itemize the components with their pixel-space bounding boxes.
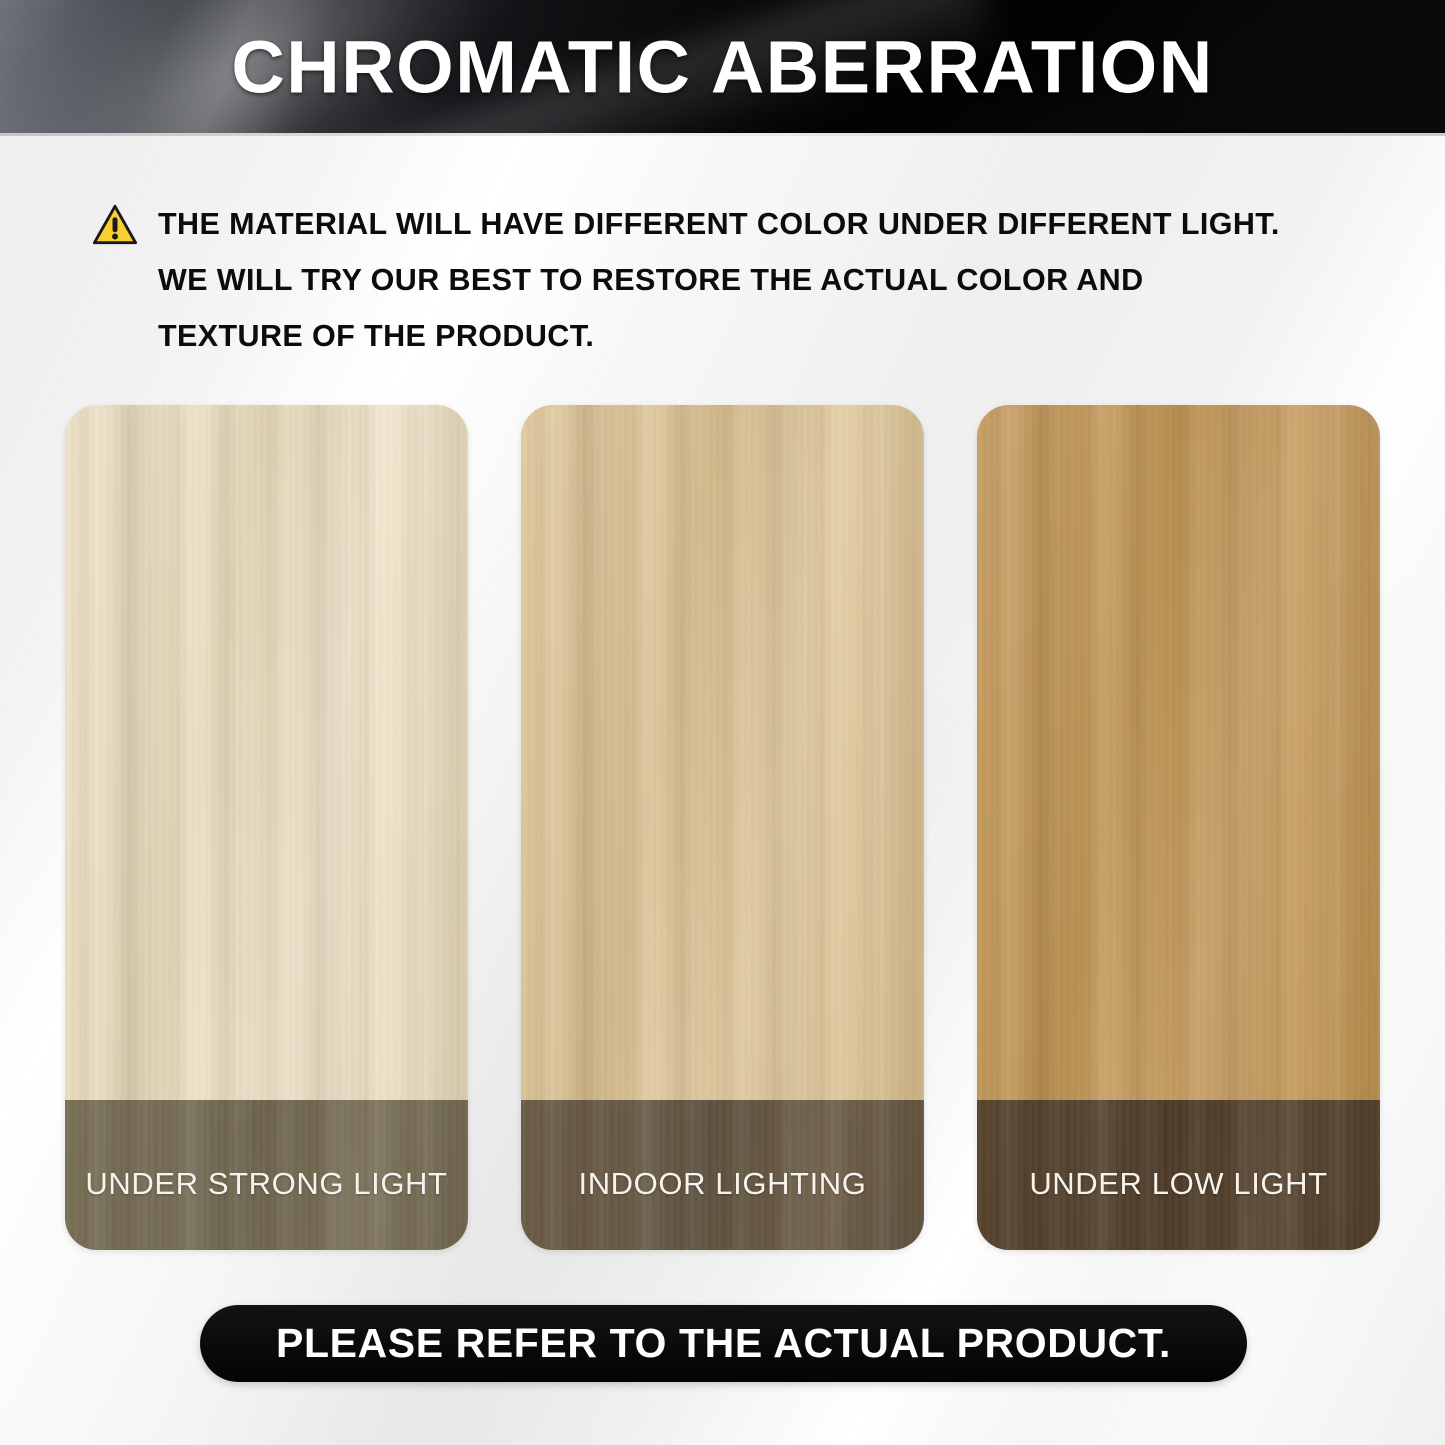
swatch-row: UNDER STRONG LIGHT INDOOR LIGHTING UNDER… — [65, 405, 1380, 1250]
footer-disclaimer-text: PLEASE REFER TO THE ACTUAL PRODUCT. — [276, 1320, 1171, 1367]
swatch-panel-indoor-lighting[interactable]: INDOOR LIGHTING — [521, 405, 924, 1250]
chromatic-aberration-infographic: CHROMATIC ABERRATION THE MATERIAL WILL H… — [0, 0, 1445, 1445]
wood-grain-soft-overlay — [65, 405, 468, 1100]
swatch-label-low-light: UNDER LOW LIGHT — [977, 1166, 1380, 1202]
wood-grain-soft-overlay — [521, 405, 924, 1100]
wood-grain-overlay — [65, 405, 468, 1100]
notice-line-1: THE MATERIAL WILL HAVE DIFFERENT COLOR U… — [158, 196, 1280, 252]
swatch-label-strong-light: UNDER STRONG LIGHT — [65, 1166, 468, 1202]
warning-triangle-icon — [92, 202, 138, 248]
wood-grain-overlay — [521, 405, 924, 1100]
notice-line-2: WE WILL TRY OUR BEST TO RESTORE THE ACTU… — [158, 252, 1280, 308]
swatch-label-indoor-lighting: INDOOR LIGHTING — [521, 1166, 924, 1202]
header-underline — [0, 133, 1445, 136]
header-banner: CHROMATIC ABERRATION — [0, 0, 1445, 133]
notice-text: THE MATERIAL WILL HAVE DIFFERENT COLOR U… — [158, 196, 1280, 364]
notice-block: THE MATERIAL WILL HAVE DIFFERENT COLOR U… — [92, 196, 1372, 364]
wood-grain-overlay — [977, 405, 1380, 1100]
wood-surface — [65, 405, 468, 1100]
page-title: CHROMATIC ABERRATION — [0, 24, 1445, 109]
notice-line-3: TEXTURE OF THE PRODUCT. — [158, 308, 1280, 364]
wood-grain-soft-overlay — [977, 405, 1380, 1100]
swatch-panel-low-light[interactable]: UNDER LOW LIGHT — [977, 405, 1380, 1250]
swatch-panel-strong-light[interactable]: UNDER STRONG LIGHT — [65, 405, 468, 1250]
wood-surface — [977, 405, 1380, 1100]
footer-disclaimer-pill: PLEASE REFER TO THE ACTUAL PRODUCT. — [200, 1305, 1247, 1382]
wood-surface — [521, 405, 924, 1100]
